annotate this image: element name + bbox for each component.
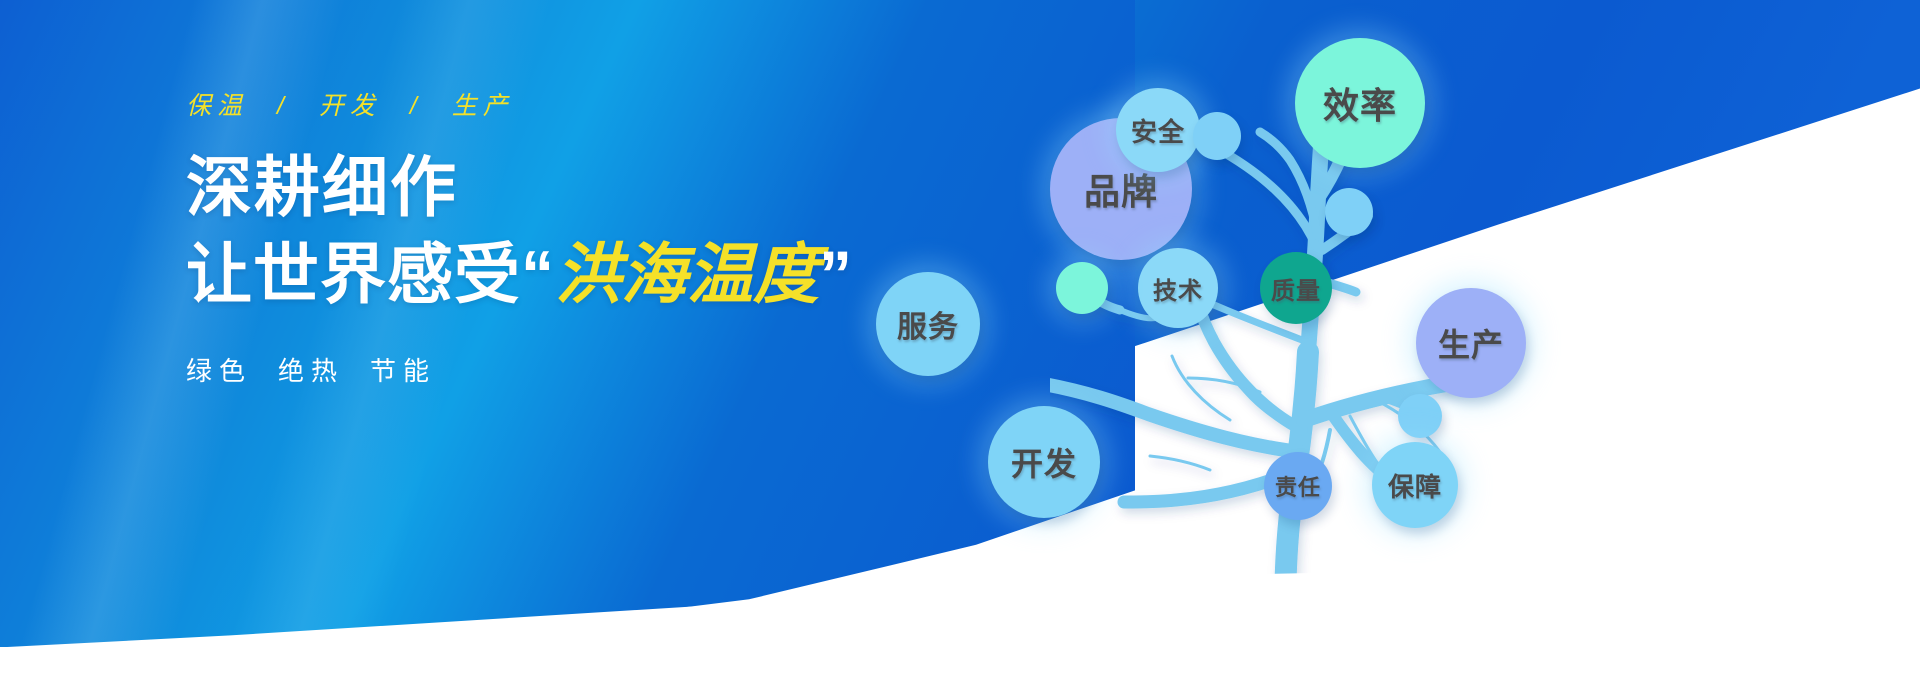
tree-bubble-label: 保障 xyxy=(1388,467,1442,504)
headline-line-1: 深耕细作 xyxy=(186,152,946,223)
hero-copy: 保温 / 开发 / 生产 深耕细作 让世界感受“洪海温度” 绿色绝热节能 xyxy=(186,86,946,388)
tree-bubble-dot-2[interactable] xyxy=(1325,188,1373,236)
tree-bubble-safety[interactable]: 安全 xyxy=(1116,88,1200,172)
tree-bubble-label: 生产 xyxy=(1438,320,1504,366)
eyebrow-tagline: 保温 / 开发 / 生产 xyxy=(186,86,946,122)
tree-bubble-label: 效率 xyxy=(1323,77,1397,129)
tree-bubble-dot-mint[interactable] xyxy=(1056,262,1108,314)
tree-bubble-dot-3[interactable] xyxy=(1398,394,1442,438)
subtitle-item-1: 绝热 xyxy=(278,356,344,386)
headline-line-2-prefix: 让世界感受 xyxy=(186,237,521,311)
tree-bubble-label: 开发 xyxy=(1011,439,1077,485)
tree-bubble-label: 质量 xyxy=(1271,271,1321,306)
tree-bubble-label: 服务 xyxy=(897,302,959,346)
tree-bubble-label: 安全 xyxy=(1131,112,1185,149)
tree-bubble-guarantee[interactable]: 保障 xyxy=(1372,442,1458,528)
eyebrow-item-1: 开发 xyxy=(319,92,381,120)
eyebrow-separator-1: / xyxy=(394,92,439,120)
quote-open: “ xyxy=(521,237,555,311)
tree-bubble-label: 品牌 xyxy=(1084,163,1158,215)
eyebrow-separator-0: / xyxy=(261,92,306,120)
tree-bubble-service[interactable]: 服务 xyxy=(876,272,980,376)
headline-highlight: 洪海温度 xyxy=(555,237,819,311)
tree-bubble-production[interactable]: 生产 xyxy=(1416,288,1526,398)
subtitle: 绿色绝热节能 xyxy=(186,351,946,388)
subtitle-item-2: 节能 xyxy=(370,356,436,386)
tree-bubble-tech[interactable]: 技术 xyxy=(1138,248,1218,328)
tree-bubble-label: 技术 xyxy=(1153,271,1203,306)
tree-bubble-develop[interactable]: 开发 xyxy=(988,406,1100,518)
quote-close: ” xyxy=(819,237,853,311)
tree-bubble-duty[interactable]: 责任 xyxy=(1264,452,1332,520)
subtitle-item-0: 绿色 xyxy=(186,356,252,386)
tree-bubble-quality[interactable]: 质量 xyxy=(1260,252,1332,324)
tree-bubble-efficiency[interactable]: 效率 xyxy=(1295,38,1425,168)
eyebrow-item-2: 生产 xyxy=(452,92,514,120)
eyebrow-item-0: 保温 xyxy=(186,92,248,120)
tree-bubble-dot-1[interactable] xyxy=(1193,112,1241,160)
headline-line-2: 让世界感受“洪海温度” xyxy=(186,239,946,310)
tree-bubble-label: 责任 xyxy=(1275,470,1321,502)
hero-banner: 保温 / 开发 / 生产 深耕细作 让世界感受“洪海温度” 绿色绝热节能 xyxy=(0,0,1920,681)
